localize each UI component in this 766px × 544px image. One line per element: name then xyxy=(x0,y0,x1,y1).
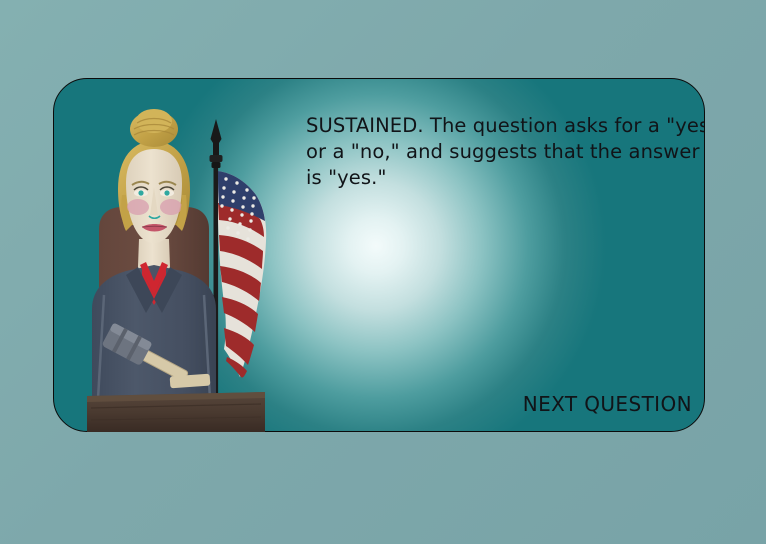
judge-head xyxy=(118,109,190,243)
judge-bench xyxy=(85,390,267,432)
next-question-button[interactable]: NEXT QUESTION xyxy=(354,392,692,416)
ruling-line-1: SUSTAINED. The question asks for a "yes" xyxy=(306,113,696,139)
flashcard-panel: SUSTAINED. The question asks for a "yes"… xyxy=(53,78,705,432)
ruling-line-2: or a "no," and suggests that the answer xyxy=(306,139,696,165)
american-flag-icon xyxy=(218,171,266,378)
slide-stage: SUSTAINED. The question asks for a "yes"… xyxy=(0,0,766,544)
judge-illustration xyxy=(74,99,324,432)
ruling-line-3: is "yes." xyxy=(306,165,696,191)
ruling-text: SUSTAINED. The question asks for a "yes"… xyxy=(306,113,696,191)
